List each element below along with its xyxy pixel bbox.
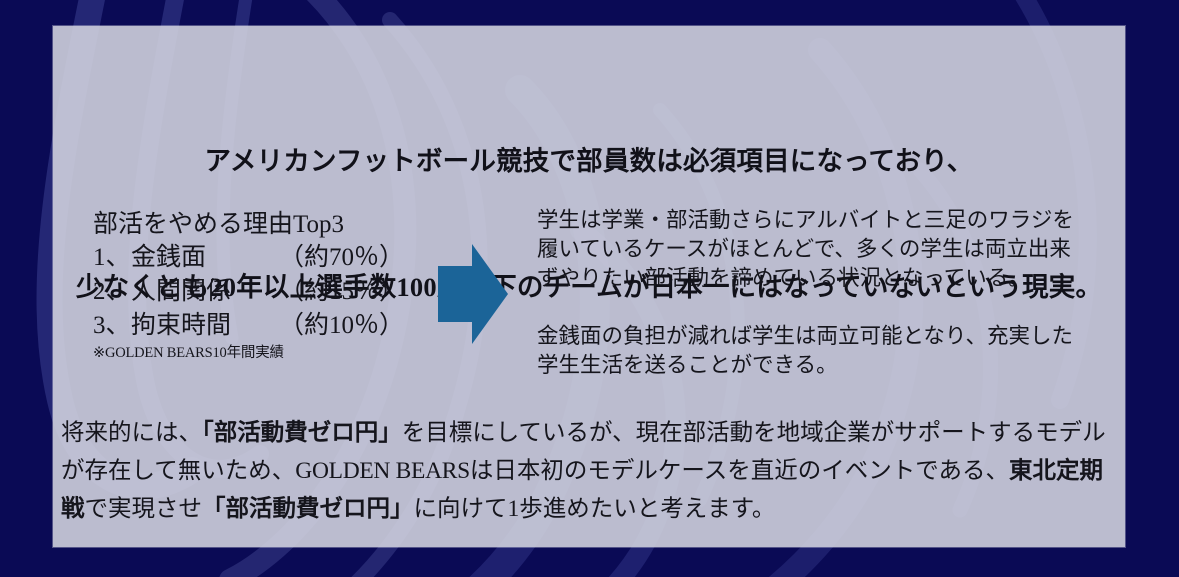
list-item: 1、 金銭面 （約70％） <box>93 241 443 275</box>
reason-percent: （約70％） <box>279 241 404 275</box>
explanation-panel: 学生は学業・部活動さらにアルバイトと三足のワラジを 履いているケースがほとんどで… <box>537 206 1107 380</box>
reasons-footnote: ※GOLDEN BEARS10年間実績 <box>93 345 443 362</box>
slide-root: アメリカンフットボール競技で部員数は必須項目になっており、 少なくとも20年以上… <box>0 0 1179 577</box>
closing-seg-9: に向けて1歩進めたいと考えます。 <box>414 496 776 522</box>
explanation-paragraph-2: 金銭面の負担が減れば学生は両立可能となり、充実した 学生生活を送ることができる。 <box>537 322 1107 380</box>
closing-seg-1: 将来的には、 <box>61 420 202 446</box>
reason-label: 金銭面 <box>131 241 279 275</box>
middle-section: 部活をやめる理由Top3 1、 金銭面 （約70％） 2、 人間関係 （約15％… <box>53 186 1125 386</box>
closing-seg-4-brand: GOLDEN BEARS <box>295 458 470 484</box>
reason-label: 拘束時間 <box>131 309 279 343</box>
list-item: 2、 人間関係 （約15％） <box>93 275 443 309</box>
reasons-title: 部活をやめる理由Top3 <box>93 208 443 241</box>
headline-line-1: アメリカンフットボール競技で部員数は必須項目になっており、 <box>53 140 1125 182</box>
arrow-right-icon <box>438 244 508 344</box>
reason-percent: （約10％） <box>279 309 404 343</box>
closing-seg-8-emphasis: 「部活動費ゼロ円」 <box>202 496 414 522</box>
reason-rank: 1、 <box>93 241 131 275</box>
closing-seg-7: で実現させ <box>85 496 203 522</box>
closing-seg-2-emphasis: 「部活動費ゼロ円」 <box>202 420 402 446</box>
explanation-paragraph-1: 学生は学業・部活動さらにアルバイトと三足のワラジを 履いているケースがほとんどで… <box>537 206 1107 293</box>
reason-rank: 2、 <box>93 275 131 309</box>
reason-label: 人間関係 <box>131 275 279 309</box>
list-item: 3、 拘束時間 （約10％） <box>93 309 443 343</box>
reasons-panel: 部活をやめる理由Top3 1、 金銭面 （約70％） 2、 人間関係 （約15％… <box>93 208 443 362</box>
content-card: アメリカンフットボール競技で部員数は必須項目になっており、 少なくとも20年以上… <box>53 26 1125 547</box>
reason-rank: 3、 <box>93 309 131 343</box>
reason-percent: （約15％） <box>279 275 404 309</box>
closing-seg-5: は日本初のモデルケースを直近のイベントである、 <box>470 458 1009 484</box>
closing-paragraph: 将来的には、「部活動費ゼロ円」を目標にしているが、現在部活動を地域企業がサポート… <box>61 414 1121 528</box>
